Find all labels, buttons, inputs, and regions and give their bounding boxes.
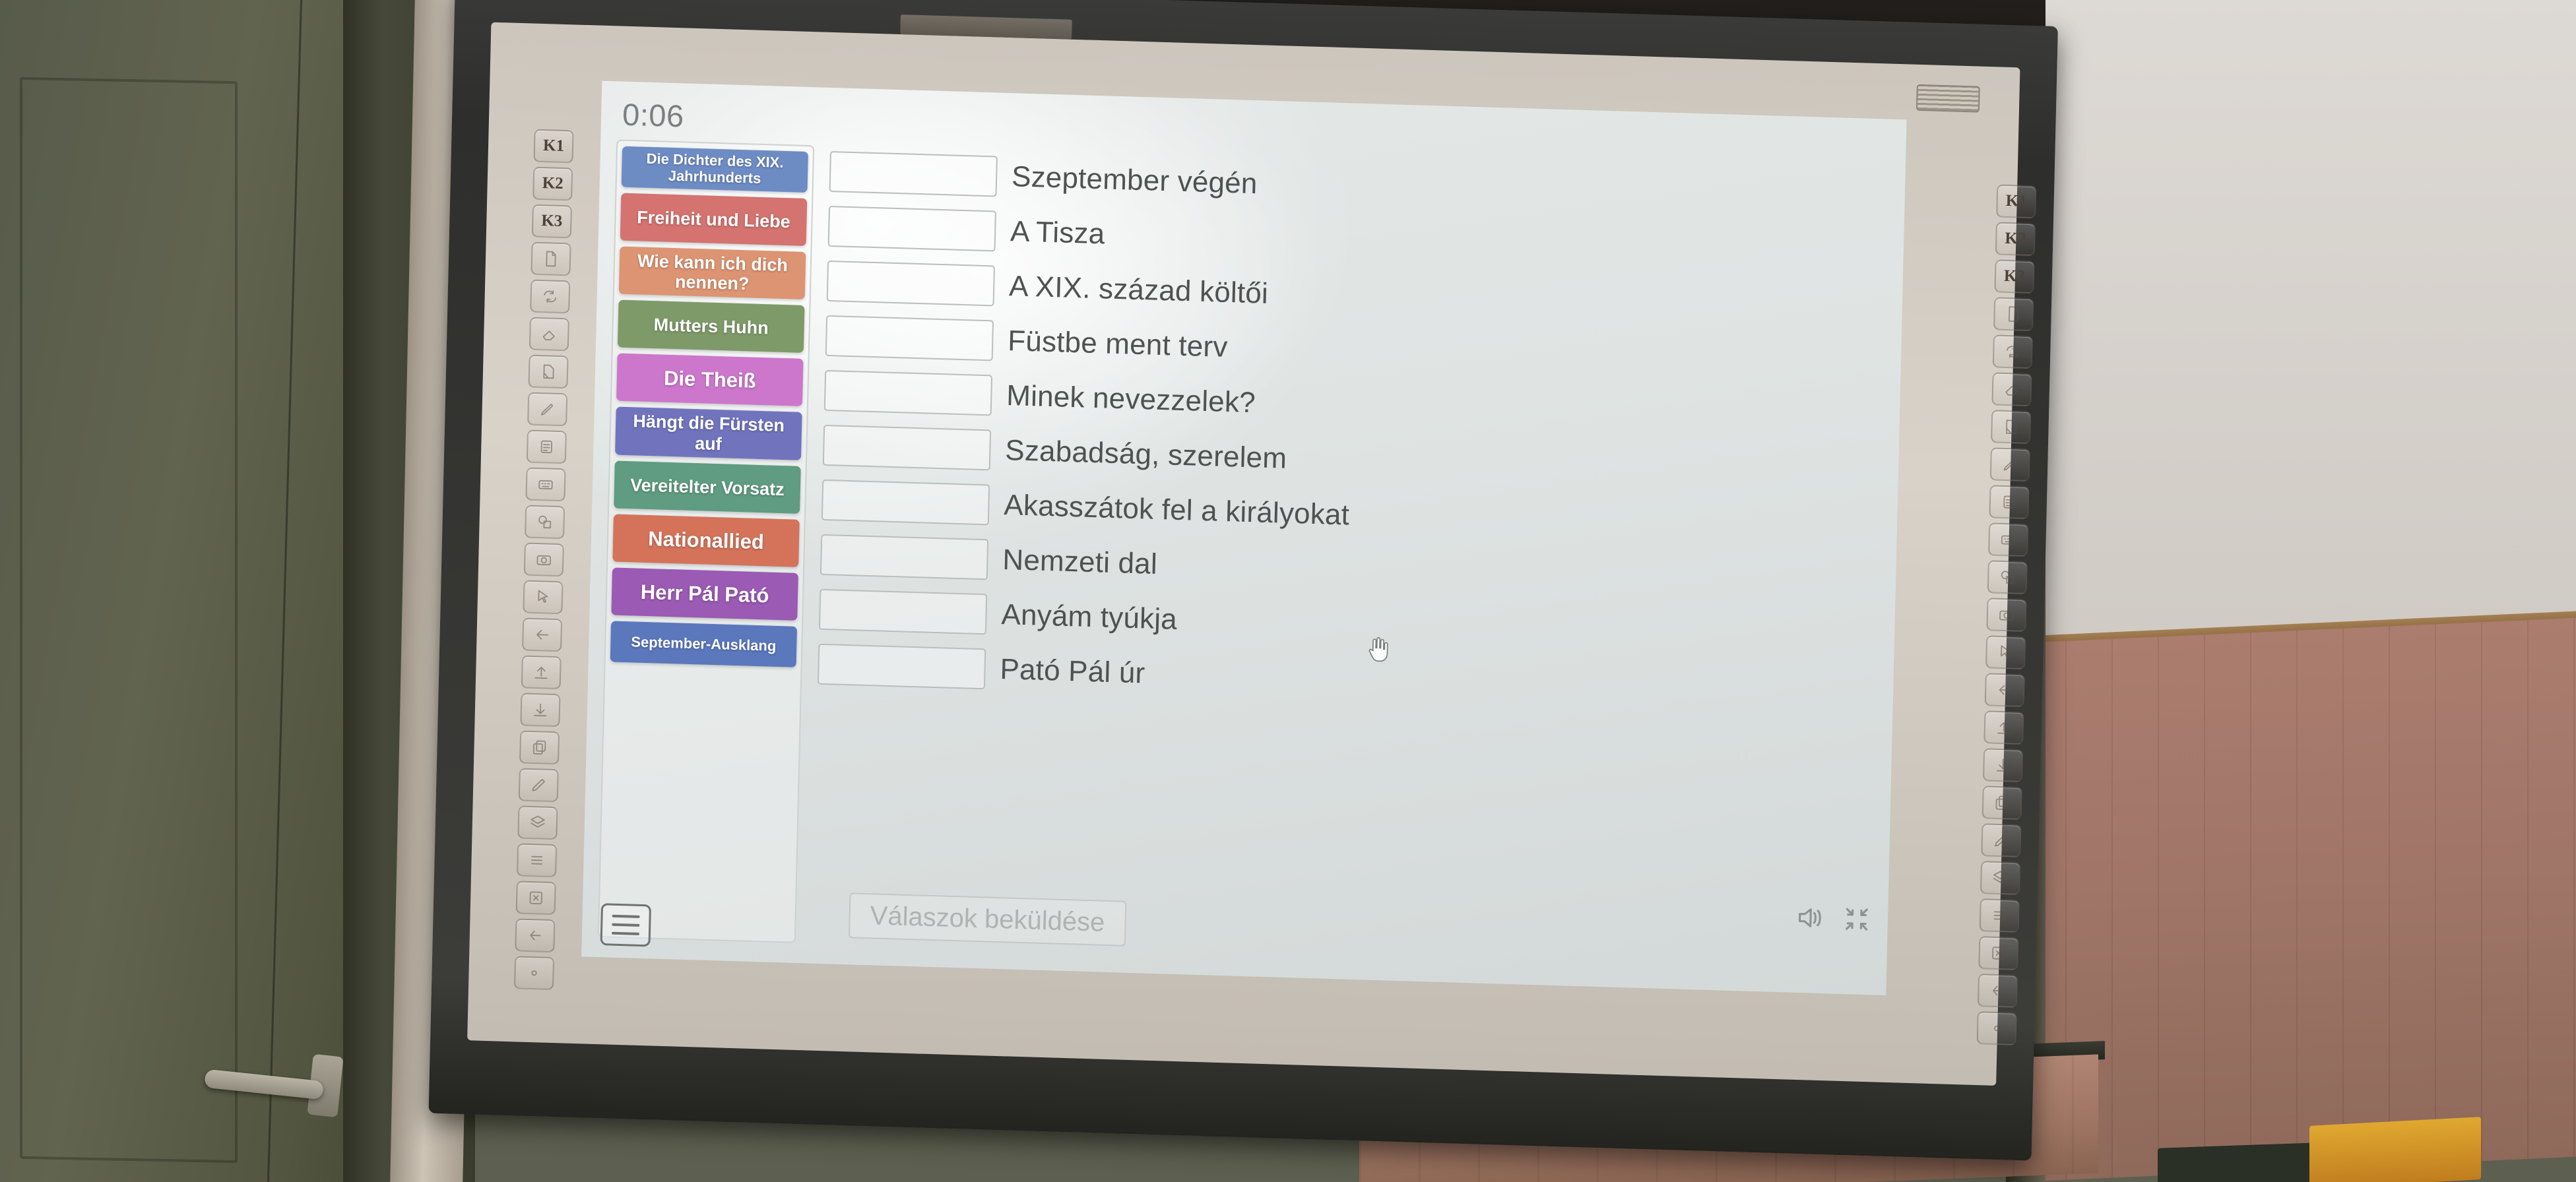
preset-k3-button[interactable]: K3 [1994, 259, 2034, 294]
quiz-tile[interactable]: Nationallied [612, 514, 800, 567]
toolbar-button-label: K2 [2005, 230, 2026, 249]
quiz-tile[interactable]: Vereitelter Vorsatz [614, 460, 801, 513]
shapes-icon[interactable] [525, 505, 565, 539]
back-arrow-icon[interactable] [1985, 673, 2025, 707]
import-icon[interactable] [520, 693, 560, 727]
keyboard-icon[interactable] [1988, 522, 2028, 557]
page-fold-icon[interactable] [1991, 410, 2031, 444]
board-toolbar-left[interactable]: K1K2K3 [509, 129, 579, 990]
preset-k3-button[interactable]: K3 [532, 204, 572, 239]
submit-row: Válaszok beküldése [800, 891, 1126, 947]
answer-dropbox[interactable] [819, 588, 987, 635]
answer-dropbox[interactable] [818, 643, 986, 689]
answer-dropbox[interactable] [827, 260, 995, 306]
interactive-whiteboard: K1K2K3 K1K2K3 0:06 Die Dichter des XIX. … [428, 0, 2057, 1161]
page-icon[interactable] [1993, 297, 2034, 331]
toolbar-button-label: K1 [543, 137, 565, 156]
preset-k1-button[interactable]: K1 [533, 129, 573, 164]
edit-icon[interactable] [519, 768, 559, 802]
quiz-tile[interactable]: Herr Pál Pató [611, 567, 798, 620]
whiteboard-speaker-grill [1916, 84, 1980, 113]
list-icon[interactable] [1980, 898, 2020, 933]
note-icon[interactable] [1989, 485, 2029, 519]
left-arrow-icon[interactable] [515, 918, 555, 952]
quiz-tile[interactable]: Die Theiß [616, 354, 804, 406]
answer-row-label: Szeptember végén [1012, 160, 1258, 201]
exit-fullscreen-icon[interactable] [1843, 906, 1871, 933]
hamburger-bar [612, 932, 639, 935]
answer-row-label: Anyám tyúkja [1001, 598, 1178, 636]
whiteboard-frame: K1K2K3 K1K2K3 0:06 Die Dichter des XIX. … [467, 22, 2020, 1086]
export-icon[interactable] [1983, 710, 2024, 745]
quiz-tile[interactable]: Mutters Huhn [618, 300, 805, 353]
hamburger-menu-icon[interactable] [600, 903, 651, 947]
door-panel [20, 77, 238, 1163]
quiz-tile[interactable]: Hängt die Fürsten auf [615, 407, 802, 460]
quiz-timer: 0:06 [622, 96, 685, 135]
answer-row-label: Minek nevezzelek? [1006, 379, 1256, 420]
answer-dropbox[interactable] [821, 479, 990, 525]
answer-row-label: Akasszátok fel a királyokat [1004, 489, 1350, 532]
hamburger-bar [612, 923, 639, 927]
camera-icon[interactable] [524, 542, 564, 576]
list-icon[interactable] [517, 843, 557, 877]
page-icon[interactable] [531, 242, 571, 276]
quiz-tile[interactable]: Wie kann ich dich nennen? [619, 247, 806, 300]
whiteboard-screen[interactable]: 0:06 Die Dichter des XIX. JahrhundertsFr… [581, 81, 1906, 995]
answer-row-label: Szabadság, szerelem [1005, 434, 1287, 476]
layers-icon[interactable] [517, 805, 558, 840]
import-icon[interactable] [1983, 748, 2023, 782]
quiz-tile[interactable]: Freiheit und Liebe [620, 193, 808, 246]
answer-dropbox[interactable] [820, 534, 988, 580]
pen-icon[interactable] [527, 392, 567, 427]
export-icon[interactable] [521, 655, 562, 689]
eraser-icon[interactable] [529, 317, 569, 352]
page-fold-icon[interactable] [528, 355, 568, 389]
close-icon[interactable] [516, 881, 556, 915]
layers-icon[interactable] [1980, 861, 2020, 895]
toolbar-button-label: K2 [542, 174, 563, 193]
matching-quiz: Die Dichter des XIX. JahrhundertsFreihei… [598, 139, 1890, 975]
power-icon[interactable] [1977, 1011, 2017, 1045]
preset-k2-button[interactable]: K2 [1995, 222, 2036, 256]
answer-row-label: Nemzeti dal [1002, 543, 1158, 580]
toolbar-button-label: K3 [2004, 267, 2026, 286]
preset-k2-button[interactable]: K2 [532, 167, 573, 201]
copy-icon[interactable] [1982, 786, 2022, 820]
pen-icon[interactable] [1990, 447, 2030, 482]
screen-corner-tools [1795, 904, 1871, 933]
answer-row-label: A XIX. század költői [1009, 270, 1269, 311]
undo-redo-icon[interactable] [1993, 334, 2033, 369]
keyboard-icon[interactable] [525, 468, 565, 502]
quiz-tile[interactable]: Die Dichter des XIX. Jahrhunderts [622, 146, 808, 193]
back-arrow-icon[interactable] [522, 617, 562, 652]
submit-answers-button[interactable]: Válaszok beküldése [849, 892, 1126, 946]
right-wall-upper [2019, 0, 2576, 666]
left-arrow-icon[interactable] [1978, 974, 2018, 1008]
undo-redo-icon[interactable] [530, 280, 570, 314]
eraser-icon[interactable] [1991, 372, 2032, 406]
speaker-volume-icon[interactable] [1795, 904, 1826, 931]
toolbar-button-label: K1 [2005, 192, 2027, 211]
answer-row-label: Pató Pál úr [1000, 652, 1145, 690]
pointer-icon[interactable] [1985, 635, 2026, 669]
whiteboard-brand-logo [900, 15, 1072, 40]
power-icon[interactable] [514, 956, 554, 990]
toolbar-button-label: K3 [541, 212, 563, 231]
quiz-tile[interactable]: September-Ausklang [610, 621, 797, 667]
preset-k1-button[interactable]: K1 [1996, 184, 2036, 218]
close-icon[interactable] [1978, 936, 2018, 970]
answer-row-label: Füstbe ment terv [1008, 325, 1228, 364]
shapes-icon[interactable] [1987, 560, 2028, 594]
answer-rows-list: Szeptember végénA TiszaA XIX. század köl… [812, 146, 1890, 975]
note-icon[interactable] [527, 430, 567, 464]
answer-dropbox[interactable] [823, 424, 991, 470]
hamburger-bar [612, 915, 640, 918]
answer-row-label: A Tisza [1010, 215, 1105, 251]
edit-icon[interactable] [1981, 823, 2021, 857]
answer-dropbox[interactable] [828, 205, 996, 251]
copy-icon[interactable] [519, 730, 560, 764]
camera-icon[interactable] [1986, 598, 2026, 632]
answer-dropbox[interactable] [825, 315, 994, 361]
draggable-tiles-panel[interactable]: Die Dichter des XIX. JahrhundertsFreihei… [598, 139, 814, 943]
right-wall-wainscot [2019, 618, 2576, 1182]
answer-dropbox[interactable] [829, 150, 998, 197]
yellow-object-on-bench [2309, 1117, 2481, 1182]
pointer-icon[interactable] [523, 580, 563, 614]
answer-dropbox[interactable] [824, 369, 992, 416]
